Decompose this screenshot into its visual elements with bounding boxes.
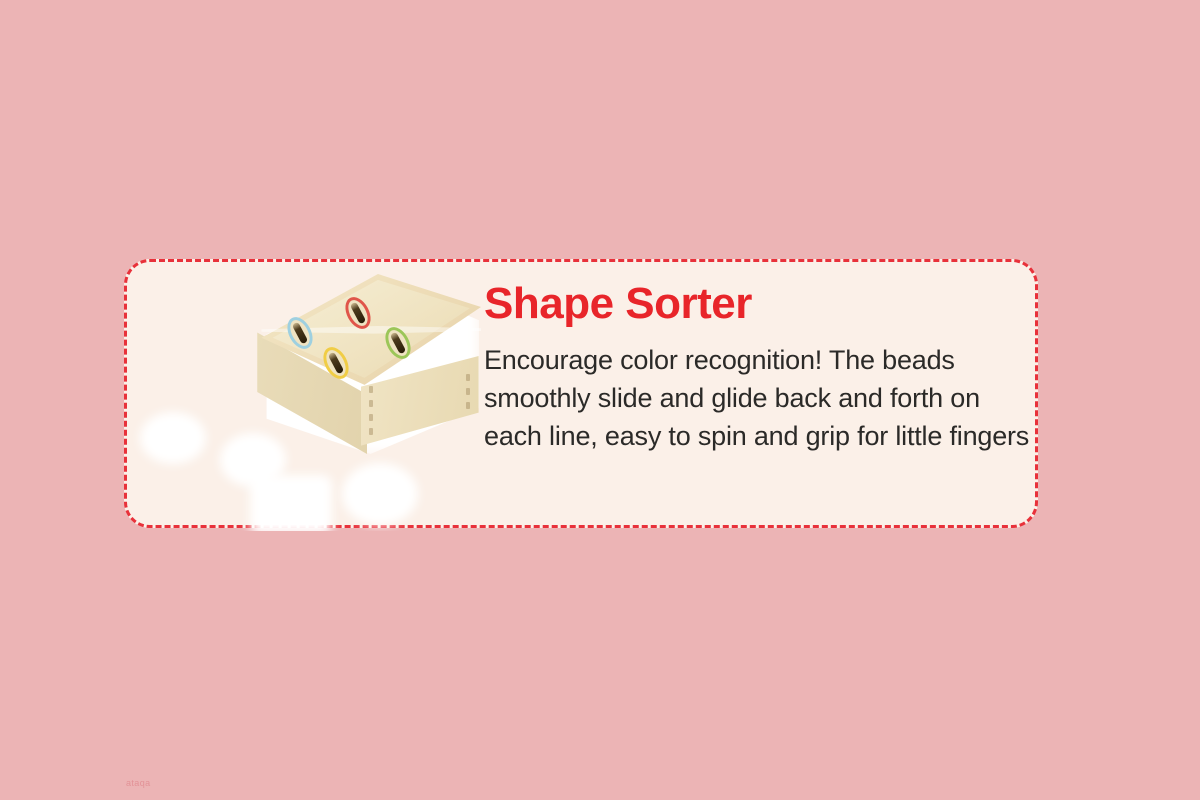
shape-piece-red-heart	[349, 470, 411, 518]
piece-glow	[342, 463, 418, 525]
page-watermark: ataqa	[126, 778, 151, 788]
slot-hole	[328, 352, 345, 375]
product-title: Shape Sorter	[484, 282, 1030, 327]
box-joint	[369, 428, 373, 435]
product-text-block: Shape Sorter Encourage color recognition…	[484, 282, 1030, 514]
box-joint	[466, 374, 470, 381]
product-card[interactable]: Shape Sorter Encourage color recognition…	[124, 259, 1038, 528]
wooden-sorter-box	[251, 274, 481, 454]
slot-hole	[292, 322, 309, 345]
piece-glow	[250, 475, 332, 531]
box-joint	[369, 386, 373, 393]
box-joint	[466, 402, 470, 409]
box-joint	[466, 388, 470, 395]
piece-glow	[140, 412, 206, 464]
slot-hole	[350, 302, 367, 325]
shape-piece-green-oval	[147, 419, 199, 457]
box-joint	[369, 414, 373, 421]
shape-piece-blue-triangle	[257, 482, 325, 528]
product-illustration	[127, 262, 487, 531]
product-description: Encourage color recognition! The beads s…	[484, 341, 1030, 455]
shape-piece-yellow-square	[227, 440, 279, 480]
slot-hole	[390, 332, 407, 355]
box-joint	[369, 400, 373, 407]
